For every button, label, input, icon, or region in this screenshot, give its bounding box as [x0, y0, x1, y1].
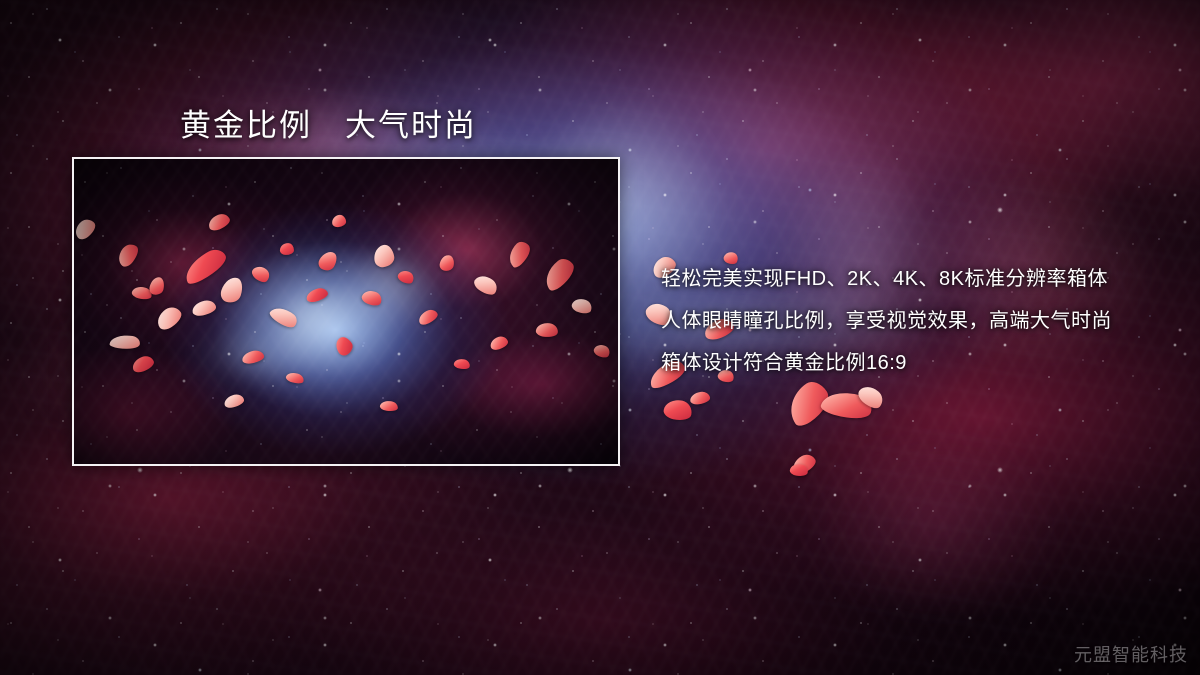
petal-shape [305, 286, 329, 304]
petal-shape [206, 211, 232, 232]
petal-shape [223, 393, 245, 409]
petal-shape [130, 354, 155, 375]
petal-shape [539, 255, 579, 293]
body-line-2: 人体眼睛瞳孔比例，享受视觉效果，高端大气时尚 [661, 300, 1181, 342]
petal-shape [218, 275, 245, 306]
framed-image-core-glow [74, 159, 618, 464]
body-line-3: 箱体设计符合黄金比例16:9 [661, 342, 1181, 384]
framed-image-starfield-a [74, 159, 618, 464]
petal-shape [819, 386, 874, 425]
petal-shape [439, 254, 456, 272]
petal-shape [332, 334, 355, 358]
petal-shape [503, 238, 534, 269]
petal-shape [570, 296, 594, 316]
petal-shape [241, 349, 265, 365]
petal-shape [250, 263, 273, 285]
petal-shape [109, 333, 141, 351]
petal-shape [379, 400, 398, 412]
body-line-1: 轻松完美实现FHD、2K、4K、8K标准分辨率箱体 [661, 258, 1181, 300]
petal-shape [789, 463, 809, 478]
petal-shape [285, 371, 305, 386]
slide-title: 黄金比例 大气时尚 [180, 100, 477, 145]
petal-shape [535, 322, 558, 338]
petal-shape [268, 302, 300, 332]
petal-shape [689, 391, 710, 406]
petal-shape [453, 357, 471, 370]
petal-shape [280, 243, 295, 256]
petal-shape [331, 214, 346, 227]
petal-shape [396, 268, 416, 286]
petal-shape [416, 307, 439, 327]
framed-image-filaments [74, 159, 618, 464]
petal-shape [489, 335, 510, 352]
petal-shape [472, 272, 501, 299]
petal-shape [180, 245, 231, 286]
petal-shape [153, 303, 185, 332]
petal-shape [373, 244, 396, 269]
petal-shape [592, 342, 612, 360]
petal-shape [855, 382, 886, 413]
framed-image-starfield-b [74, 159, 618, 464]
petal-shape [131, 285, 153, 301]
petal-shape [790, 451, 819, 476]
petal-shape [316, 248, 340, 273]
framed-image-nebula-base [74, 159, 618, 464]
petal-shape [662, 397, 694, 422]
petal-shape [72, 216, 99, 242]
petal-shape [148, 276, 165, 297]
watermark: 元盟智能科技 [1074, 641, 1188, 667]
body-text-block: 轻松完美实现FHD、2K、4K、8K标准分辨率箱体 人体眼睛瞳孔比例，享受视觉效… [661, 258, 1181, 384]
petal-shape [780, 377, 835, 430]
petal-shape [191, 299, 217, 318]
framed-image-vignette [74, 159, 618, 464]
framed-image-16x9 [72, 157, 620, 466]
petal-shape [114, 241, 141, 270]
presentation-slide: 黄金比例 大气时尚 轻松完美实现FHD、2K、4K、8K标准分辨率箱体 人体眼睛… [0, 0, 1200, 675]
petal-shape [360, 288, 384, 308]
